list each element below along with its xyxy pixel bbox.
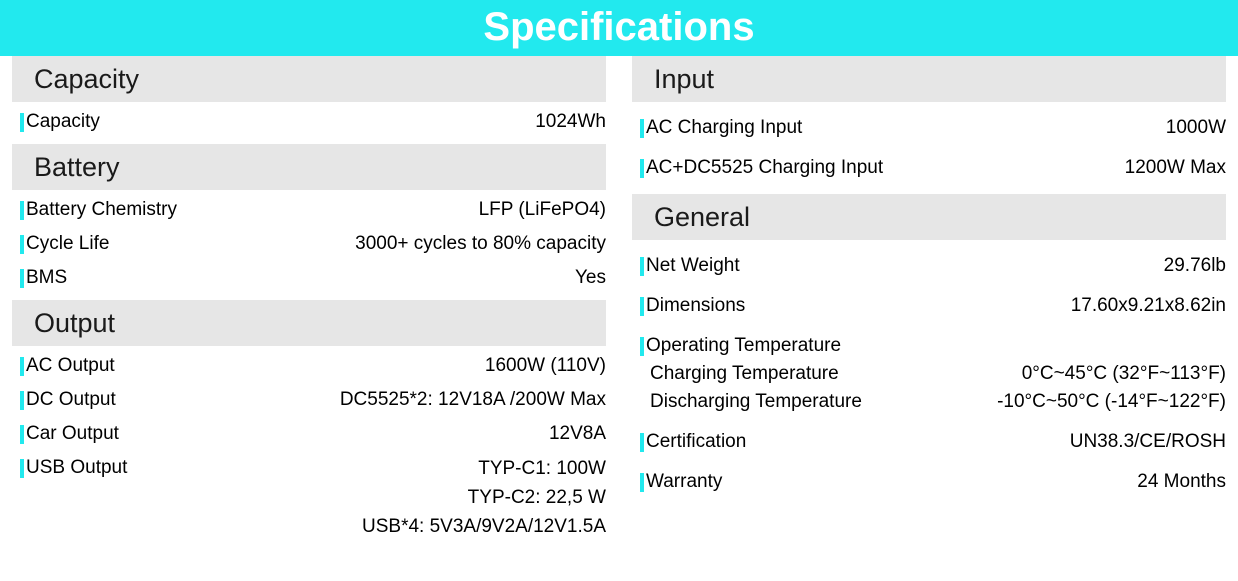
spec-label: DC Output — [12, 386, 116, 414]
spec-label: Cycle Life — [12, 230, 109, 258]
spec-row: AC+DC5525 Charging Input 1200W Max — [632, 154, 1226, 182]
accent-bar-icon — [20, 235, 24, 254]
spec-label: Operating Temperature — [632, 332, 841, 360]
spec-label: Charging Temperature — [632, 360, 839, 388]
spec-value: 1200W Max — [1125, 154, 1226, 182]
spec-row: Certification UN38.3/CE/ROSH — [632, 428, 1226, 456]
spec-value: 12V8A — [549, 420, 606, 448]
temperature-group: Operating Temperature Charging Temperatu… — [632, 332, 1226, 416]
accent-bar-icon — [640, 159, 644, 178]
spec-label: Warranty — [632, 468, 722, 496]
spec-row: DC Output DC5525*2: 12V18A /200W Max — [12, 386, 606, 414]
section-header-input: Input — [632, 56, 1226, 102]
spec-row: Charging Temperature 0°C~45°C (32°F~113°… — [632, 360, 1226, 388]
spec-row: Discharging Temperature -10°C~50°C (-14°… — [632, 388, 1226, 416]
spec-label: AC Output — [12, 352, 115, 380]
page-title-banner: Specifications — [0, 0, 1238, 56]
right-column: Input AC Charging Input 1000W AC+DC5525 … — [632, 56, 1226, 508]
section-rows-output: AC Output 1600W (110V) DC Output DC5525*… — [12, 346, 606, 541]
section-title-capacity: Capacity — [12, 66, 139, 93]
spec-row: AC Output 1600W (110V) — [12, 352, 606, 380]
spec-value: 3000+ cycles to 80% capacity — [355, 230, 606, 258]
spec-row: Net Weight 29.76lb — [632, 252, 1226, 280]
section-title-input: Input — [632, 66, 714, 93]
spec-value: Yes — [575, 264, 606, 292]
section-rows-capacity: Capacity 1024Wh — [12, 102, 606, 136]
accent-bar-icon — [640, 297, 644, 316]
accent-bar-icon — [20, 459, 24, 478]
spec-value: UN38.3/CE/ROSH — [1070, 428, 1226, 456]
spec-label: USB Output — [12, 454, 127, 482]
spec-label: Dimensions — [632, 292, 745, 320]
spec-label: Capacity — [12, 108, 100, 136]
section-rows-general: Net Weight 29.76lb Dimensions 17.60x9.21… — [632, 240, 1226, 496]
section-title-output: Output — [12, 310, 115, 337]
spec-label: Battery Chemistry — [12, 196, 177, 224]
spec-row: Warranty 24 Months — [632, 468, 1226, 496]
accent-bar-icon — [20, 357, 24, 376]
spec-value: LFP (LiFePO4) — [479, 196, 606, 224]
spec-label: AC Charging Input — [632, 114, 802, 142]
spec-value: 17.60x9.21x8.62in — [1071, 292, 1226, 320]
accent-bar-icon — [20, 201, 24, 220]
accent-bar-icon — [20, 391, 24, 410]
spec-row: Dimensions 17.60x9.21x8.62in — [632, 292, 1226, 320]
accent-bar-icon — [20, 425, 24, 444]
spec-row: BMS Yes — [12, 264, 606, 292]
spec-value: 24 Months — [1137, 468, 1226, 496]
section-rows-input: AC Charging Input 1000W AC+DC5525 Chargi… — [632, 102, 1226, 182]
spec-value: 29.76lb — [1164, 252, 1226, 280]
accent-bar-icon — [640, 473, 644, 492]
spec-row: Battery Chemistry LFP (LiFePO4) — [12, 196, 606, 224]
section-title-general: General — [632, 204, 750, 231]
section-rows-battery: Battery Chemistry LFP (LiFePO4) Cycle Li… — [12, 190, 606, 292]
accent-bar-icon — [640, 257, 644, 276]
accent-bar-icon — [640, 337, 644, 356]
spec-value: 1000W — [1166, 114, 1226, 142]
accent-bar-icon — [20, 113, 24, 132]
spec-value: 0°C~45°C (32°F~113°F) — [1022, 360, 1226, 388]
spec-row: Car Output 12V8A — [12, 420, 606, 448]
spec-label: Net Weight — [632, 252, 740, 280]
accent-bar-icon — [640, 119, 644, 138]
page-title: Specifications — [483, 7, 754, 47]
left-column: Capacity Capacity 1024Wh Battery Battery… — [12, 56, 606, 547]
section-header-capacity: Capacity — [12, 56, 606, 102]
spec-row: Capacity 1024Wh — [12, 108, 606, 136]
spec-row: Cycle Life 3000+ cycles to 80% capacity — [12, 230, 606, 258]
spec-row: AC Charging Input 1000W — [632, 114, 1226, 142]
accent-bar-icon — [20, 269, 24, 288]
section-header-output: Output — [12, 300, 606, 346]
section-header-general: General — [632, 194, 1226, 240]
spec-label: Discharging Temperature — [632, 388, 862, 416]
accent-bar-icon — [640, 433, 644, 452]
section-header-battery: Battery — [12, 144, 606, 190]
spec-value: 1024Wh — [535, 108, 606, 136]
spec-row: Operating Temperature — [632, 332, 1226, 360]
spec-value: 1600W (110V) — [485, 352, 606, 380]
section-title-battery: Battery — [12, 154, 120, 181]
spec-label: Certification — [632, 428, 746, 456]
spec-value: DC5525*2: 12V18A /200W Max — [340, 386, 606, 414]
spec-label: AC+DC5525 Charging Input — [632, 154, 883, 182]
spec-row: USB Output TYP-C1: 100W TYP-C2: 22,5 W U… — [12, 454, 606, 541]
spec-value: -10°C~50°C (-14°F~122°F) — [997, 388, 1226, 416]
spec-value: TYP-C1: 100W TYP-C2: 22,5 W USB*4: 5V3A/… — [362, 454, 606, 541]
spec-label: Car Output — [12, 420, 119, 448]
